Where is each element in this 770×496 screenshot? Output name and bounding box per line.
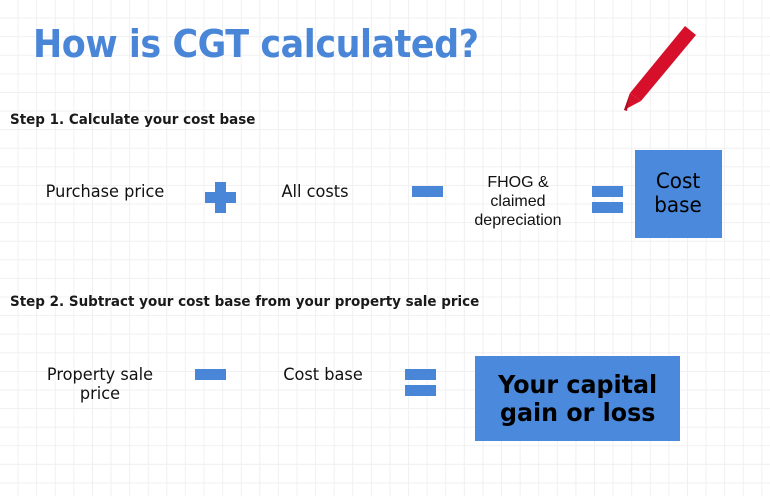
term-property-sale-price-line-2: price — [80, 384, 120, 404]
term-property-sale-price: Property sale price — [29, 366, 172, 405]
term-fhog-claimed-depreciation: FHOG & claimed depreciation — [448, 174, 588, 231]
result-cost-base-line-1: Cost — [656, 169, 700, 193]
slide-canvas: How is CGT calculated? Step 1. Calculate… — [0, 0, 770, 496]
term-all-costs: All costs — [253, 183, 377, 202]
minus-operator-icon-step1 — [412, 186, 443, 197]
term-property-sale-price-line-1: Property sale — [47, 365, 153, 385]
step-1-heading: Step 1. Calculate your cost base — [10, 112, 255, 128]
red-marker-icon — [608, 22, 708, 114]
result-cost-base-line-2: base — [655, 193, 703, 217]
term-cost-base: Cost base — [261, 366, 385, 385]
equals-operator-icon-step2 — [405, 369, 436, 396]
result-capital-gain-line-2: gain or loss — [500, 398, 655, 427]
term-purchase-price: Purchase price — [24, 183, 186, 202]
page-title: How is CGT calculated? — [33, 22, 479, 66]
step-2-heading: Step 2. Subtract your cost base from you… — [10, 294, 479, 310]
term-fhog-line-3: depreciation — [474, 212, 561, 229]
term-fhog-line-1: FHOG & — [487, 174, 548, 191]
result-box-cost-base: Cost base — [635, 150, 722, 238]
equals-operator-icon-step1 — [592, 186, 623, 213]
term-fhog-line-2: claimed — [490, 193, 545, 210]
plus-operator-icon — [205, 182, 236, 213]
result-capital-gain-line-1: Your capital — [498, 370, 657, 399]
minus-operator-icon-step2 — [195, 369, 226, 380]
result-box-capital-gain-or-loss: Your capital gain or loss — [475, 356, 680, 441]
